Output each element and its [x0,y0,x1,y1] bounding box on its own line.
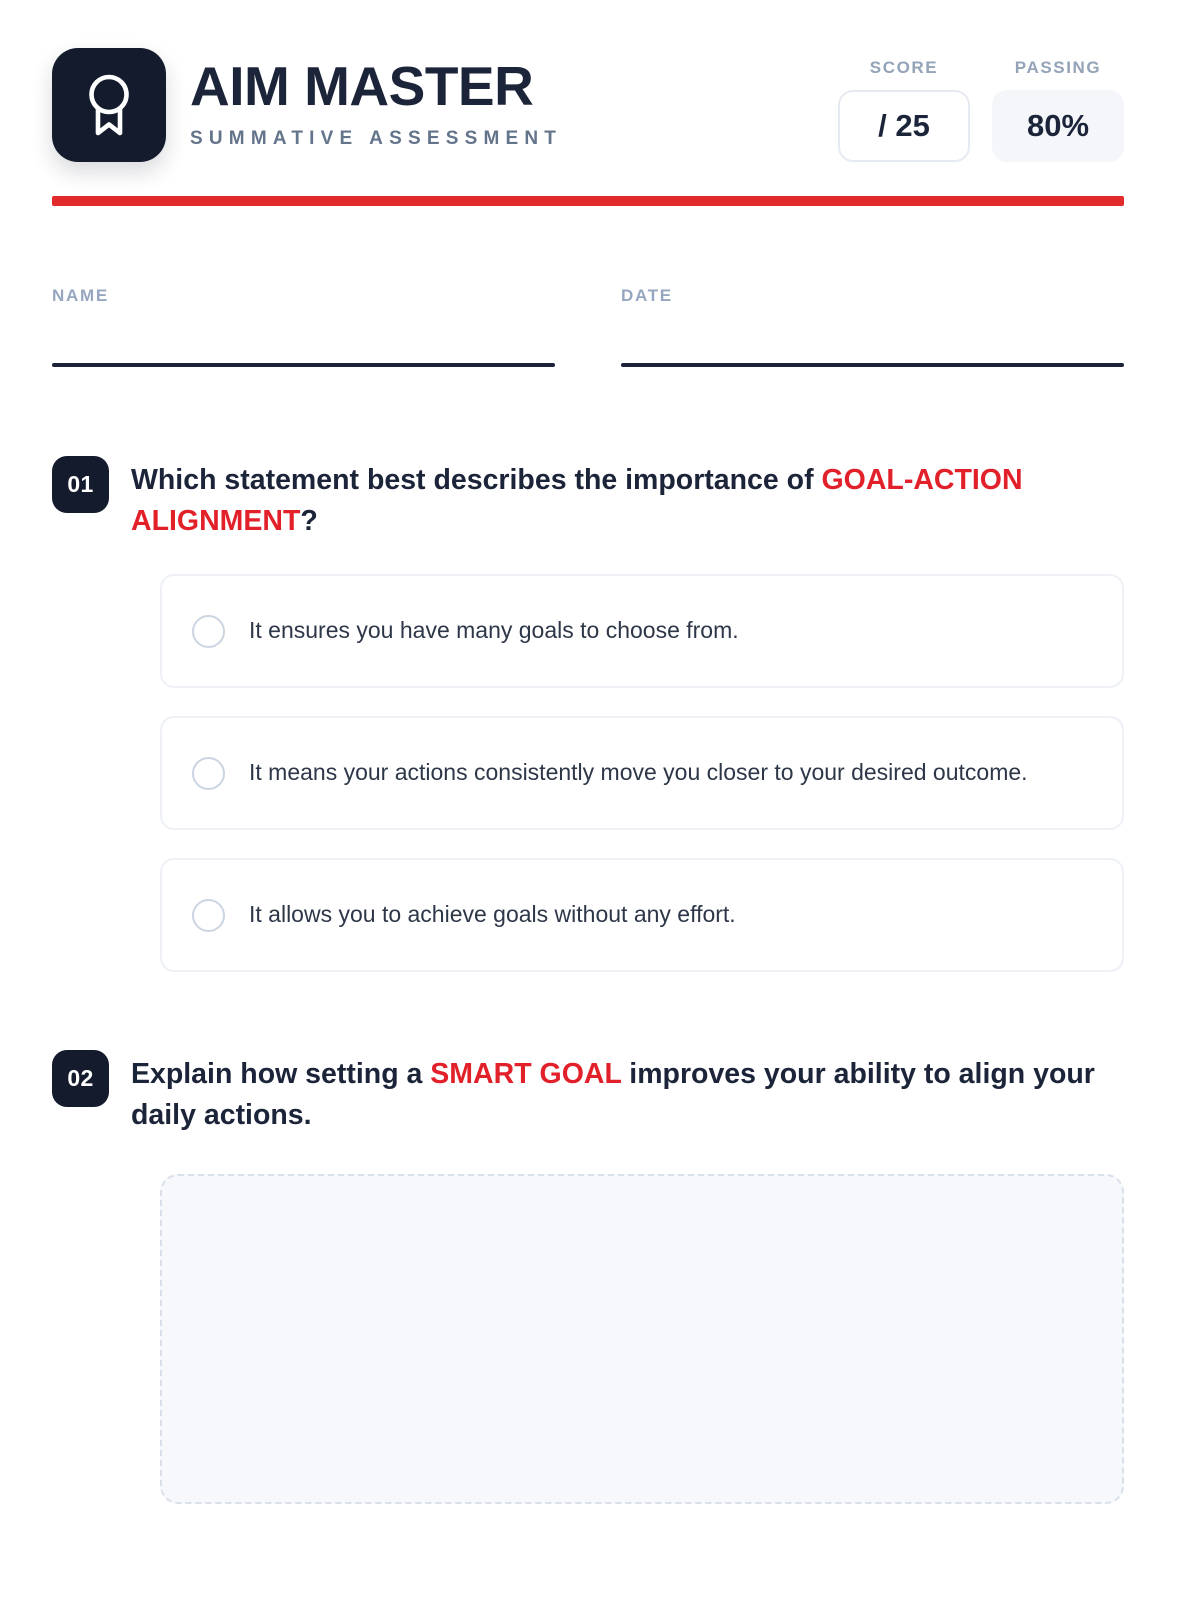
option-label: It ensures you have many goals to choose… [249,612,739,649]
student-info-fields: NAME DATE [52,286,1124,367]
score-input-box[interactable]: / 25 [838,90,970,162]
question-02-number: 02 [52,1050,109,1107]
brand-block: AIM MASTER SUMMATIVE ASSESSMENT [52,48,562,162]
option-row[interactable]: It allows you to achieve goals without a… [160,858,1124,972]
worksheet-header: AIM MASTER SUMMATIVE ASSESSMENT SCORE / … [52,48,1124,164]
question-01-text-after: ? [300,505,317,537]
meter-passing: PASSING 80% [992,58,1124,162]
field-name: NAME [52,286,555,367]
page-subtitle: SUMMATIVE ASSESSMENT [190,128,562,150]
assessment-worksheet: AIM MASTER SUMMATIVE ASSESSMENT SCORE / … [0,0,1200,1600]
meter-score: SCORE / 25 [838,58,970,162]
brand-text: AIM MASTER SUMMATIVE ASSESSMENT [190,58,562,151]
question-01-number: 01 [52,456,109,513]
radio-circle-icon[interactable] [192,757,225,790]
name-input-line[interactable] [52,363,555,367]
field-date: DATE [621,286,1124,367]
radio-circle-icon[interactable] [192,615,225,648]
option-row[interactable]: It ensures you have many goals to choose… [160,574,1124,688]
question-01: 01 Which statement best describes the im… [52,456,1124,972]
accent-divider [52,196,1124,206]
question-02-text: Explain how setting a SMART GOAL improve… [131,1050,1103,1136]
award-ribbon-icon [52,48,166,162]
meter-score-label: SCORE [838,58,970,78]
option-label: It allows you to achieve goals without a… [249,896,736,933]
question-01-header: 01 Which statement best describes the im… [52,456,1124,542]
question-02-highlight: SMART GOAL [430,1058,621,1090]
field-name-label: NAME [52,286,555,306]
question-01-text: Which statement best describes the impor… [131,456,1103,542]
date-input-line[interactable] [621,363,1124,367]
question-02-header: 02 Explain how setting a SMART GOAL impr… [52,1050,1124,1136]
radio-circle-icon[interactable] [192,899,225,932]
question-02-text-before: Explain how setting a [131,1058,430,1090]
question-01-text-before: Which statement best describes the impor… [131,464,822,496]
question-spacer [52,972,1124,1050]
page-title: AIM MASTER [190,58,562,114]
question-01-options: It ensures you have many goals to choose… [160,574,1124,972]
questions-list: 01 Which statement best describes the im… [52,456,1124,1504]
meter-passing-label: PASSING [992,58,1124,78]
long-answer-box[interactable] [160,1174,1124,1504]
option-row[interactable]: It means your actions consistently move … [160,716,1124,830]
score-meters: SCORE / 25 PASSING 80% [838,48,1124,162]
field-date-label: DATE [621,286,1124,306]
option-label: It means your actions consistently move … [249,754,1028,791]
passing-value-box: 80% [992,90,1124,162]
question-02: 02 Explain how setting a SMART GOAL impr… [52,1050,1124,1504]
